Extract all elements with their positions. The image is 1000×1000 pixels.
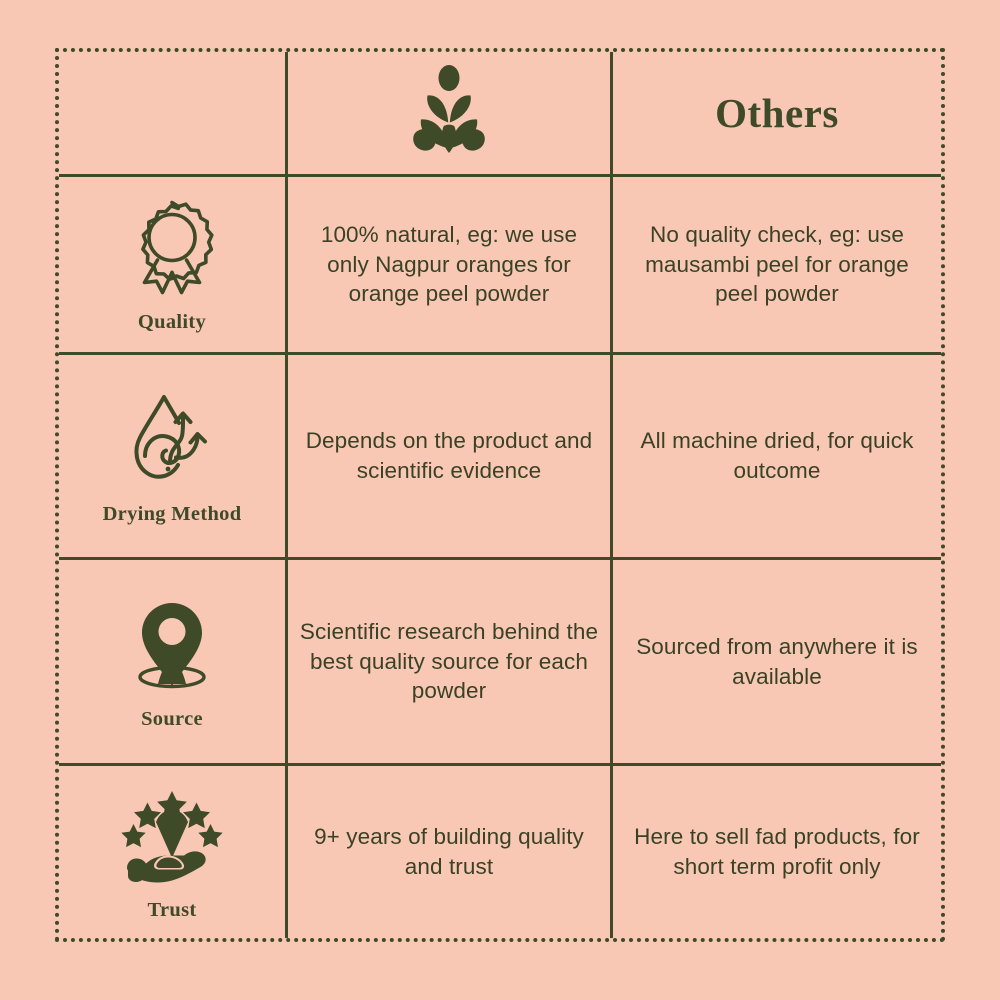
leaf-plant-logo-icon (403, 65, 495, 161)
cell-text: No quality check, eg: use mausambi peel … (627, 220, 927, 309)
cell-ours-source: Scientific research behind the best qual… (288, 560, 613, 766)
cell-others-trust: Here to sell fad products, for short ter… (613, 766, 941, 938)
cell-text: 100% natural, eg: we use only Nagpur ora… (299, 220, 599, 309)
others-column-title: Others (715, 93, 839, 134)
award-rosette-icon (124, 195, 220, 303)
cell-text: Sourced from anywhere it is available (627, 632, 927, 691)
cell-text: All machine dried, for quick outcome (627, 426, 927, 485)
cell-others-drying-method: All machine dried, for quick outcome (613, 355, 941, 560)
row-label-cell-quality: Quality (59, 177, 288, 355)
comparison-table: Others (59, 52, 941, 938)
row-label-trust: Trust (148, 899, 197, 922)
row-label-cell-source: Source (59, 560, 288, 766)
header-brand-cell (288, 52, 613, 177)
row-label-quality: Quality (138, 311, 206, 334)
comparison-poster: Others (0, 0, 1000, 1000)
hand-holding-gem-stars-icon (121, 783, 223, 891)
cell-text: 9+ years of building quality and trust (299, 822, 599, 881)
cell-others-source: Sourced from anywhere it is available (613, 560, 941, 766)
cell-text: Scientific research behind the best qual… (299, 617, 599, 706)
cell-text: Here to sell fad products, for short ter… (627, 822, 927, 881)
cell-ours-trust: 9+ years of building quality and trust (288, 766, 613, 938)
header-others-cell: Others (613, 52, 941, 177)
row-label-drying-method: Drying Method (103, 503, 242, 526)
map-pin-location-icon (124, 592, 220, 700)
row-label-cell-trust: Trust (59, 766, 288, 938)
cell-others-quality: No quality check, eg: use mausambi peel … (613, 177, 941, 355)
row-label-source: Source (141, 708, 203, 731)
cell-text: Depends on the product and scientific ev… (299, 426, 599, 485)
cell-ours-drying-method: Depends on the product and scientific ev… (288, 355, 613, 560)
row-label-cell-drying-method: Drying Method (59, 355, 288, 560)
water-droplet-evaporation-icon (124, 387, 220, 495)
cell-ours-quality: 100% natural, eg: we use only Nagpur ora… (288, 177, 613, 355)
header-blank-cell (59, 52, 288, 177)
